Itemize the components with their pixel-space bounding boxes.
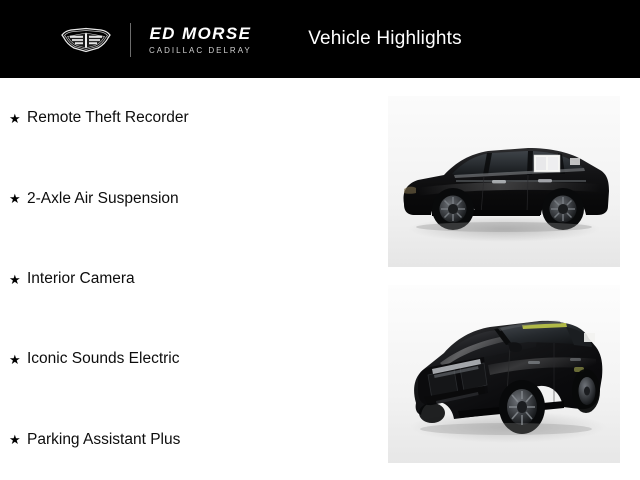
dealer-subtitle: CADILLAC DELRAY (149, 45, 252, 56)
star-bullet-icon: ★ (9, 353, 27, 366)
vehicle-photo-front-three-quarter[interactable] (388, 285, 620, 463)
feature-label: Iconic Sounds Electric (27, 350, 180, 368)
dealer-name: ED MORSE (149, 25, 251, 43)
star-bullet-icon: ★ (9, 112, 27, 125)
list-item: ★ Remote Theft Recorder (0, 78, 380, 158)
list-item: ★ Parking Assistant Plus (0, 400, 380, 480)
vehicle-photo-side[interactable] (388, 96, 620, 267)
feature-label: Interior Camera (27, 270, 135, 288)
feature-label: 2-Axle Air Suspension (27, 190, 179, 208)
star-bullet-icon: ★ (9, 192, 27, 205)
list-item: ★ 2-Axle Air Suspension (0, 158, 380, 238)
list-item: ★ Iconic Sounds Electric (0, 319, 380, 399)
dealer-name-block: ED MORSE CADILLAC DELRAY (149, 25, 252, 56)
page-header: ED MORSE CADILLAC DELRAY Vehicle Highlig… (0, 0, 640, 78)
page-title-text: Vehicle Highlights (308, 28, 462, 50)
cadillac-crest-icon (60, 27, 112, 53)
feature-label: Parking Assistant Plus (27, 431, 180, 449)
feature-label: Remote Theft Recorder (27, 109, 189, 127)
brand-divider (130, 23, 131, 57)
star-bullet-icon: ★ (9, 273, 27, 286)
vehicle-highlights-page: ED MORSE CADILLAC DELRAY Vehicle Highlig… (0, 0, 640, 480)
list-item: ★ Interior Camera (0, 239, 380, 319)
dealer-brand-lockup[interactable]: ED MORSE CADILLAC DELRAY (60, 20, 252, 60)
vehicle-feature-list: ★ Remote Theft Recorder ★ 2-Axle Air Sus… (0, 78, 380, 480)
star-bullet-icon: ★ (9, 433, 27, 446)
